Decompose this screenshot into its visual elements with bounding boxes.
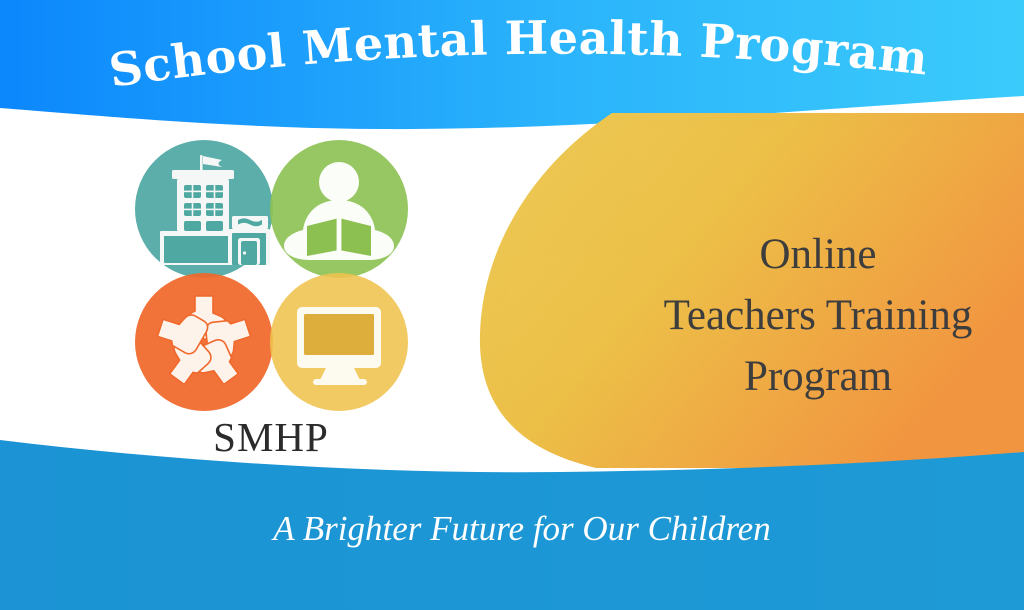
logo-circle-school-building bbox=[135, 140, 273, 278]
logo-circle-student-reading bbox=[270, 140, 408, 278]
panel-line-3: Program bbox=[744, 353, 892, 400]
logo-circle-online-learning bbox=[270, 273, 408, 411]
logo-acronym: SMHP bbox=[213, 414, 329, 460]
panel-line-2: Teachers Training bbox=[664, 292, 973, 339]
banner-canvas: School Mental Health Program Online Teac… bbox=[0, 0, 1024, 610]
teamwork-circle bbox=[135, 273, 273, 411]
logo-circle-teamwork bbox=[135, 273, 273, 411]
panel-line-1: Online bbox=[759, 231, 876, 278]
promotional-banner: School Mental Health Program Online Teac… bbox=[0, 0, 1024, 610]
tagline: A Brighter Future for Our Children bbox=[271, 509, 770, 548]
